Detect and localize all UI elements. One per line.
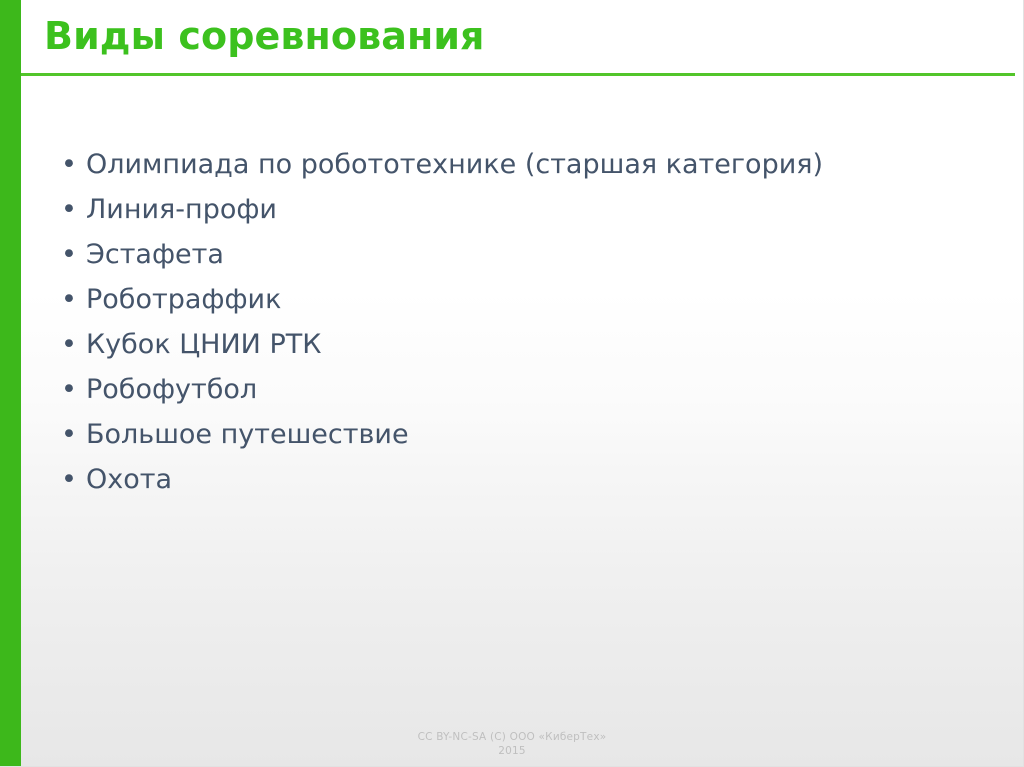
list-item: • Роботраффик <box>58 277 998 322</box>
list-item-label: Линия-профи <box>86 194 277 225</box>
list-item: • Олимпиада по робототехнике (старшая ка… <box>58 142 998 187</box>
bullet-icon: • <box>61 277 77 322</box>
slide-title-area: Виды соревнования <box>0 0 1024 78</box>
list-item: • Большое путешествие <box>58 412 998 457</box>
competition-types-list: • Олимпиада по робототехнике (старшая ка… <box>58 142 998 502</box>
list-item-label: Большое путешествие <box>86 419 409 450</box>
list-item-label: Роботраффик <box>86 284 281 315</box>
list-item-label: Эстафета <box>86 239 224 270</box>
bullet-icon: • <box>61 457 77 502</box>
list-item: • Робофутбол <box>58 367 998 412</box>
left-accent-bar <box>0 0 21 767</box>
presentation-slide: Виды соревнования • Олимпиада по роботот… <box>0 0 1024 767</box>
page-title: Виды соревнования <box>44 11 485 61</box>
bullet-icon: • <box>61 142 77 187</box>
bullet-icon: • <box>61 232 77 277</box>
footer-year: 2015 <box>0 744 1024 758</box>
list-item: • Кубок ЦНИИ РТК <box>58 322 998 367</box>
list-item: • Эстафета <box>58 232 998 277</box>
slide-footer: CC BY-NC-SA (C) ООО «КиберТех» 2015 <box>0 730 1024 758</box>
list-item-label: Олимпиада по робототехнике (старшая кате… <box>86 149 823 180</box>
title-divider-rule <box>21 73 1015 76</box>
list-item-label: Робофутбол <box>86 374 257 405</box>
bullet-icon: • <box>61 187 77 232</box>
footer-license: CC BY-NC-SA (C) ООО «КиберТех» <box>0 730 1024 744</box>
bullet-icon: • <box>61 322 77 367</box>
list-item: • Линия-профи <box>58 187 998 232</box>
list-item-label: Охота <box>86 464 172 495</box>
bullet-icon: • <box>61 412 77 457</box>
bullet-icon: • <box>61 367 77 412</box>
list-item: • Охота <box>58 457 998 502</box>
list-item-label: Кубок ЦНИИ РТК <box>86 329 321 360</box>
